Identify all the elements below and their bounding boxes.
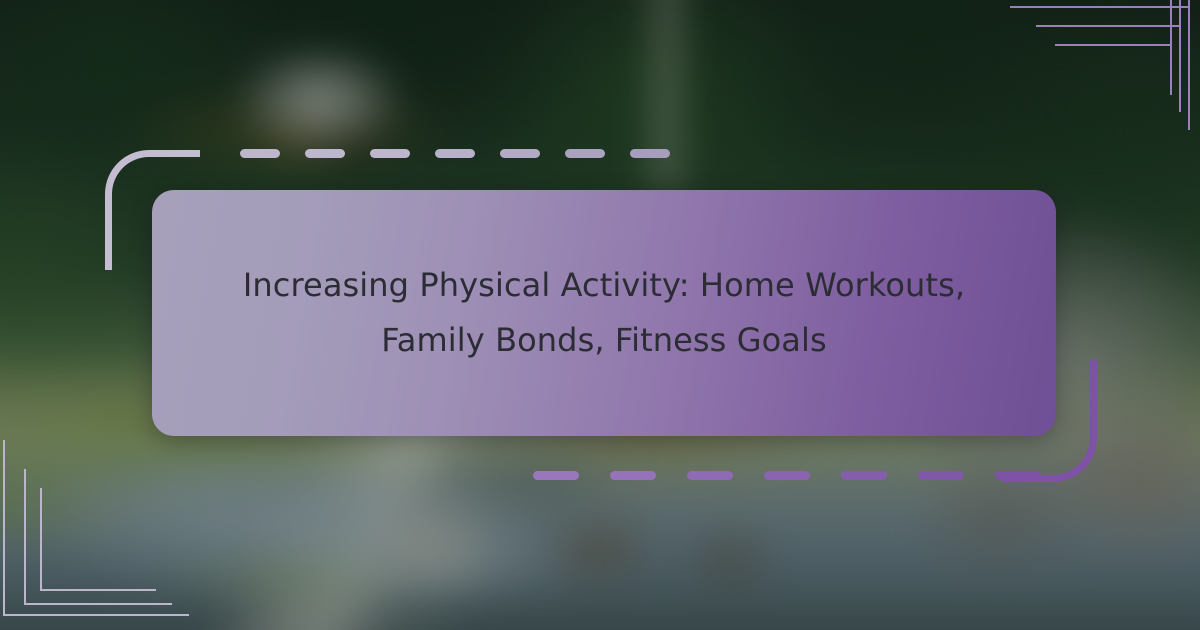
dash-segment (435, 149, 475, 158)
dash-segment (533, 471, 579, 480)
dash-segment (370, 149, 410, 158)
dash-segment (918, 471, 964, 480)
accent-stroke-bottom-right (1002, 360, 1097, 482)
dash-segment (687, 471, 733, 480)
dash-segment (500, 149, 540, 158)
dash-segment (305, 149, 345, 158)
dash-segment (610, 471, 656, 480)
share-card-canvas: Increasing Physical Activity: Home Worko… (0, 0, 1200, 630)
dash-segment (764, 471, 810, 480)
title-card: Increasing Physical Activity: Home Worko… (152, 190, 1056, 436)
dash-segment (630, 149, 670, 158)
dash-segment (240, 149, 280, 158)
page-title: Increasing Physical Activity: Home Worko… (209, 258, 999, 368)
dash-segment (841, 471, 887, 480)
dash-segment (565, 149, 605, 158)
